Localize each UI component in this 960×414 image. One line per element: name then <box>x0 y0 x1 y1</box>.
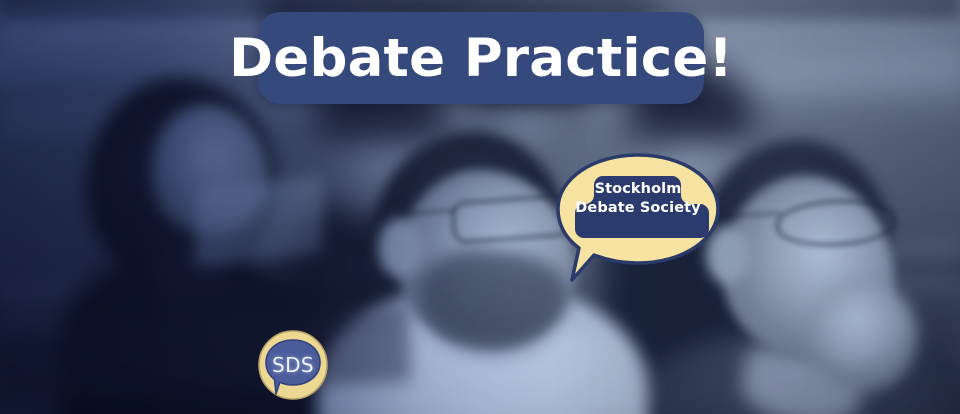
wall-panel-upper-left <box>0 0 260 86</box>
laptop-screen <box>195 175 324 267</box>
person-centre-ear <box>378 218 424 278</box>
page-title: Debate Practice! <box>229 32 733 85</box>
title-banner: Debate Practice! <box>258 12 704 104</box>
speech-bubble-shape <box>552 152 724 288</box>
sds-logo: SDS <box>257 329 329 401</box>
sds-logo-shape <box>257 329 329 401</box>
speech-bubble: Stockholm Debate Society <box>552 152 724 288</box>
person-right-hand <box>808 280 918 390</box>
event-banner: Debate Practice! Stockholm Debate Societ… <box>0 0 960 414</box>
